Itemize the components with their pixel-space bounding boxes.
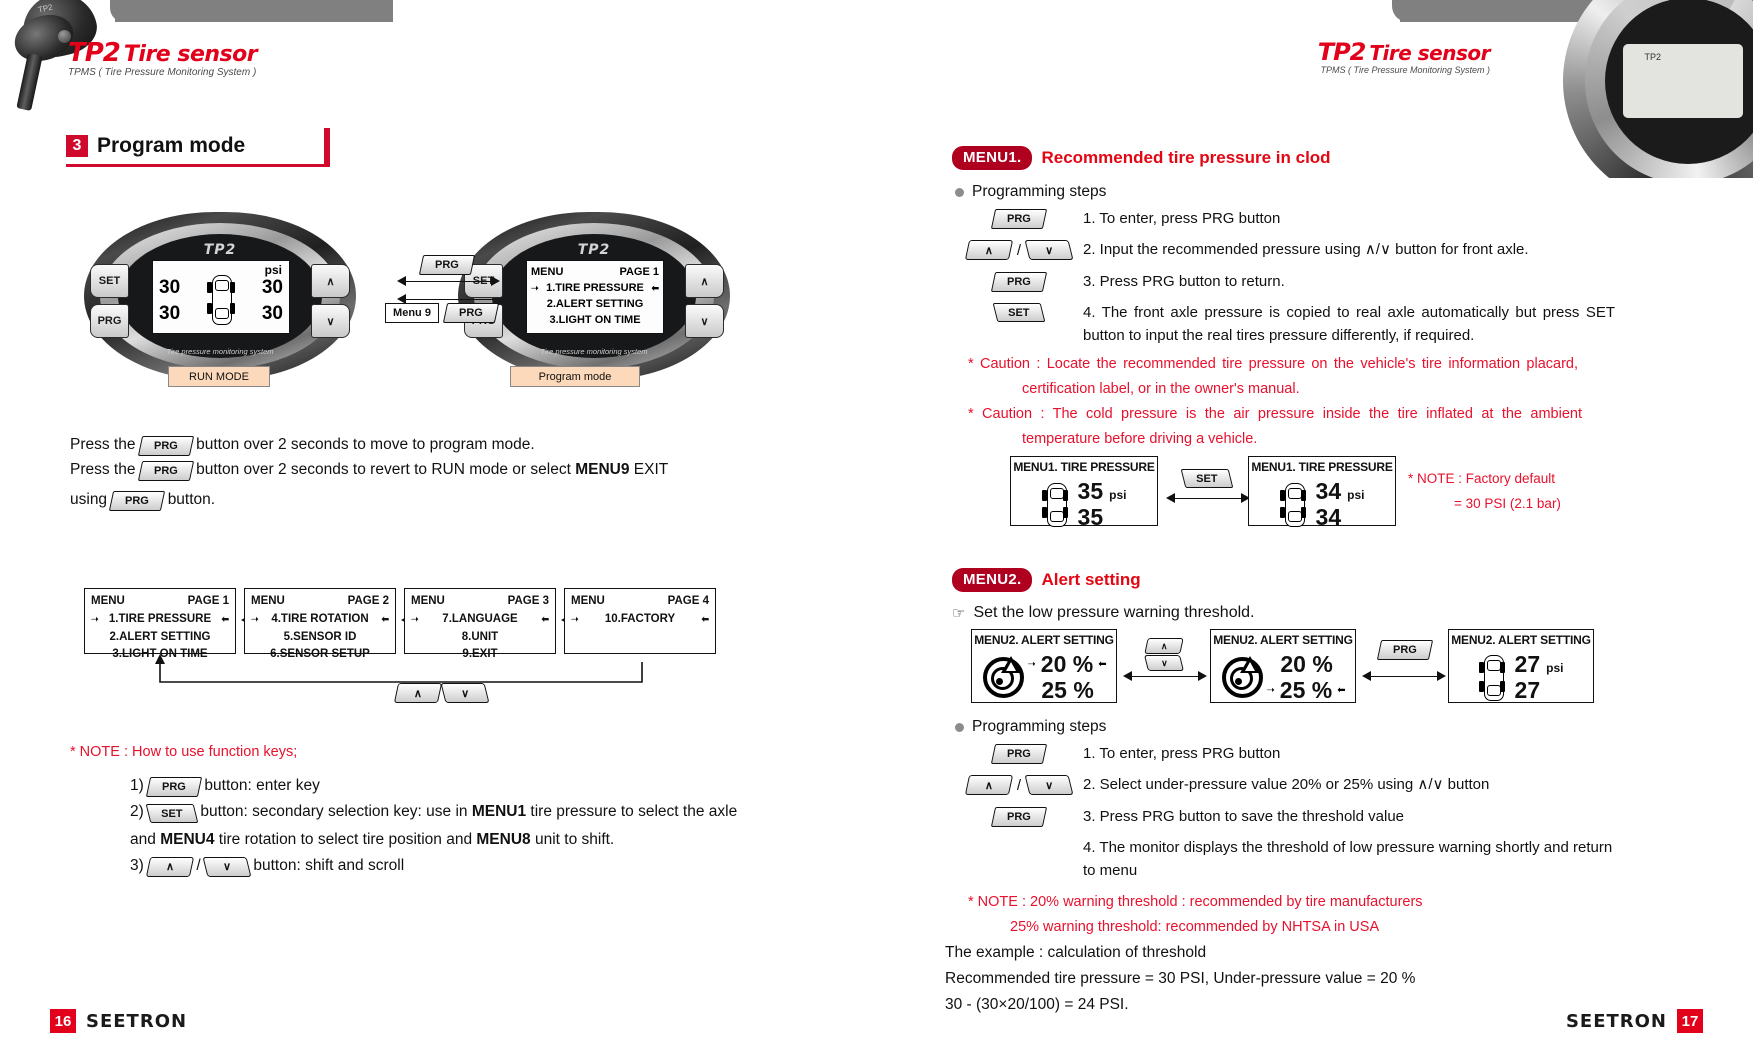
menu1-example-1-bottom: 35 [1078, 504, 1127, 530]
menu2-title: Alert setting [1041, 570, 1140, 590]
pointing-hand-icon: ☞ [952, 604, 965, 622]
menu1-step-4: SET 4. The front axle pressure is copied… [955, 301, 1615, 348]
section-header: 3 Program mode [66, 128, 328, 167]
menu1-step4-text: 4. The front axle pressure is copied to … [1083, 301, 1615, 348]
brand-tiresensor-left: Tire sensor [124, 42, 257, 67]
menu1-step1-text: 1. To enter, press PRG button [1083, 207, 1615, 230]
note-item-2-l1: button: secondary selection key: use in [200, 803, 467, 820]
note-item-3-text: button: shift and scroll [253, 857, 404, 874]
menu2-step3-prg-key: PRG [991, 807, 1047, 827]
car-icon [1042, 483, 1068, 525]
lcd-menu-item-2: 2.ALERT SETTING [531, 297, 659, 313]
menu1-step2-up-key: ∧ [965, 240, 1013, 260]
menu2-note-2: 25% warning threshold: recommended by NH… [1010, 915, 1379, 940]
menu2-step3-text: 3. Press PRG button to save the threshol… [1083, 805, 1615, 828]
menu-page-2-number: PAGE 2 [348, 593, 389, 611]
menu1-example-1-title: MENU1. TIRE PRESSURE [1011, 457, 1157, 474]
device-set-button-run[interactable]: SET [90, 264, 129, 298]
brand-subtitle-left: TPMS ( Tire Pressure Monitoring System ) [68, 67, 257, 78]
paragraph-exit-program-mode: Press the PRG button over 2 seconds to r… [70, 455, 740, 515]
menu-page-3-item-2: 8.UNIT [411, 629, 549, 647]
menu2-example-box-3: MENU2. ALERT SETTING 27 psi 27 [1448, 629, 1594, 703]
menu-page-1-item-1: 1.TIRE PRESSURE [109, 611, 211, 629]
section-header-tick [324, 128, 330, 167]
note-item-2-l2c: unit to shift. [535, 831, 614, 848]
menu2-hand-note-text: Set the low pressure warning threshold. [973, 604, 1254, 622]
menu-page-4-number: PAGE 4 [668, 593, 709, 611]
para2-pre: Press the [70, 461, 135, 478]
para2-line2-prg-key: PRG [109, 491, 165, 511]
tpms-monitor-photo: TP2 [1453, 0, 1753, 178]
brand-subtitle-right: TPMS ( Tire Pressure Monitoring System ) [1318, 65, 1490, 75]
menu2-example-2-title: MENU2. ALERT SETTING [1211, 630, 1355, 647]
menu1-example-2-top: 34 [1316, 478, 1342, 504]
menu2-step-3: PRG 3. Press PRG button to save the thre… [955, 805, 1615, 828]
menu1-step2-down-key: ∨ [1025, 240, 1074, 260]
menu2-example-3-psi: psi [1546, 661, 1563, 675]
tire-warning-icon [981, 656, 1021, 698]
menu-page-2-item-1: 4.TIRE ROTATION [271, 611, 368, 629]
menu2-conn-up-key: ∧ [1144, 638, 1183, 654]
menu-page-3-number: PAGE 3 [508, 593, 549, 611]
footer-logo-left: SEETRON [86, 1011, 187, 1032]
page-number-left: 16 [50, 1009, 76, 1033]
para2-mid: button over 2 seconds to revert to RUN m… [196, 461, 571, 478]
note-item-3-num: 3) [130, 857, 144, 874]
para1-prg-key: PRG [138, 436, 194, 456]
device-screen-logo-run: TP2 [84, 242, 356, 258]
menu-page-3-item-1: 7.LANGUAGE [442, 611, 517, 629]
menu1-factory-note-line2: = 30 PSI (2.1 bar) [1408, 491, 1561, 516]
calc-line-3: 30 - (30×20/100) = 24 PSI. [945, 992, 1415, 1018]
car-icon [1479, 655, 1505, 699]
lcd-front-right-value: 30 [262, 277, 283, 299]
menu1-step3-prg-key: PRG [991, 272, 1047, 292]
menu2-connector-1: ∧ ∨ [1122, 640, 1208, 690]
header-bar-right-round [1392, 0, 1422, 22]
note-prg-key: PRG [146, 777, 202, 797]
brand-tp2-right: TP2 [1318, 38, 1366, 66]
menu1-steps: PRG 1. To enter, press PRG button ∧ / ∨ … [955, 207, 1615, 355]
menu2-example-3-title: MENU2. ALERT SETTING [1449, 630, 1593, 647]
menu1-example-set-key: SET [1181, 469, 1234, 488]
mode-transition-arrows: PRG Menu 9 PRG [395, 255, 500, 325]
note-function-keys-title: * NOTE : How to use function keys; [70, 740, 297, 765]
menu1-pill: MENU1. [952, 146, 1032, 170]
menu2-conn-prg-key: PRG [1377, 640, 1433, 660]
lcd-menu-item-1: 1.TIRE PRESSURE [546, 281, 644, 297]
menu-page-box-2: MENU PAGE 2 ➝ 4.TIRE ROTATION ⬅ 5.SENSOR… [244, 588, 396, 654]
note-menu4-bold: MENU4 [160, 831, 214, 848]
menu2-example-3-bottom: 27 [1515, 677, 1564, 703]
program-mode-lcd: MENU PAGE 1 ➝ 1.TIRE PRESSURE ⬅ 2.ALERT … [526, 260, 664, 334]
menu2-step1-prg-key: PRG [991, 744, 1047, 764]
page-title: Program mode [97, 134, 245, 158]
brand-tiresensor-right: Tire sensor [1369, 41, 1490, 65]
menu1-caution-2: * Caution : The cold pressure is the air… [968, 402, 1582, 452]
note-item-2: 2) SET button: secondary selection key: … [130, 798, 742, 854]
menu2-bullet-label: Programming steps [972, 718, 1106, 736]
run-mode-label: RUN MODE [168, 366, 270, 387]
lcd-front-left-value: 30 [159, 277, 180, 299]
menu2-step4-text: 4. The monitor displays the threshold of… [1083, 836, 1615, 883]
menu2-step-4: 4. The monitor displays the threshold of… [955, 836, 1615, 883]
menu1-example-2-title: MENU1. TIRE PRESSURE [1249, 457, 1395, 474]
menu1-title: Recommended tire pressure in clod [1041, 148, 1330, 168]
note-menu8-bold: MENU8 [476, 831, 530, 848]
menu2-step-2: ∧ / ∨ 2. Select under-pressure value 20%… [955, 773, 1615, 796]
car-icon [1280, 483, 1306, 525]
menu-loop-connector [80, 650, 660, 692]
note-menu1-bold: MENU1 [472, 803, 526, 820]
note-down-key: ∨ [203, 857, 252, 877]
lcd-page-label: PAGE 1 [619, 265, 659, 281]
para1-post: button over 2 seconds to move to program… [196, 436, 535, 453]
para2-exit: EXIT [634, 461, 668, 478]
brand-logo-right: TP2 Tire sensor TPMS ( Tire Pressure Mon… [1318, 38, 1490, 75]
note-up-key: ∧ [146, 857, 194, 877]
scroll-down-key[interactable]: ∨ [441, 683, 490, 703]
calc-line-1: The example : calculation of threshold [945, 940, 1415, 966]
device-down-button-run[interactable]: ∨ [311, 304, 350, 338]
menu2-connector-2: PRG [1361, 640, 1447, 690]
menu1-example-1-top: 35 [1078, 478, 1104, 504]
menu2-steps-bullet: Programming steps [955, 718, 1106, 736]
para2-prg-key: PRG [138, 461, 194, 481]
menu2-example-1-bottom: 25 % [1027, 677, 1106, 703]
menu-page-4-item-1: 10.FACTORY [605, 611, 675, 629]
run-mode-lcd: psi 30 30 30 30 [152, 260, 290, 334]
note-item-2-num: 2) [130, 803, 144, 820]
tire-warning-icon [1220, 656, 1260, 698]
bullet-dot-icon [955, 188, 964, 197]
menu1-header: MENU1. Recommended tire pressure in clod [952, 146, 1331, 170]
menu9-box: Menu 9 [385, 303, 439, 323]
scroll-up-key[interactable]: ∧ [394, 683, 442, 703]
menu-page-box-3: MENU PAGE 3 ➝ 7.LANGUAGE ⬅ 8.UNIT 9.EXIT [404, 588, 556, 654]
menu2-step2-down-key: ∨ [1025, 775, 1074, 795]
menu2-step1-text: 1. To enter, press PRG button [1083, 742, 1615, 765]
brand-tp2-left: TP2 [68, 38, 120, 68]
menu-page-4-label: MENU [571, 593, 605, 611]
scroll-keys-row: ∧ ∨ [396, 683, 487, 703]
brand-logo-left: TP2 Tire sensor TPMS ( Tire Pressure Mon… [68, 38, 257, 78]
menu2-example-1-top: 20 % [1041, 651, 1093, 677]
menu1-step-1: PRG 1. To enter, press PRG button [955, 207, 1615, 230]
run-mode-device: TP2 SET PRG ∧ ∨ psi 30 30 30 30 Tire pre… [84, 212, 356, 380]
device-footer-run: Tire pressure monitoring system [84, 347, 356, 356]
menu2-example-calc: The example : calculation of threshold R… [945, 940, 1415, 1018]
menu1-factory-note: * NOTE : Factory default = 30 PSI (2.1 b… [1408, 466, 1561, 516]
menu1-example-2-bottom: 34 [1316, 504, 1365, 530]
menu1-steps-bullet: Programming steps [955, 183, 1106, 201]
menu2-step2-text: 2. Select under-pressure value 20% or 25… [1083, 773, 1615, 796]
device-down-button-prog[interactable]: ∨ [685, 304, 724, 338]
note-item-2-l2b: tire rotation to select tire position an… [219, 831, 472, 848]
menu1-step-3: PRG 3. Press PRG button to return. [955, 270, 1615, 293]
menu2-hand-note: ☞ Set the low pressure warning threshold… [952, 604, 1255, 622]
manual-page: TP2 TP2 TP2 Tire sensor TPMS ( Tire Pres… [0, 0, 1753, 1047]
menu-page-1-number: PAGE 1 [188, 593, 229, 611]
footer-right: SEETRON 17 [1566, 1009, 1703, 1033]
device-up-button-prog[interactable]: ∧ [685, 264, 724, 298]
para2-line2-post: button. [168, 491, 215, 508]
menu-page-2-label: MENU [251, 593, 285, 611]
header-bar-left [115, 0, 393, 22]
menu1-step3-text: 3. Press PRG button to return. [1083, 270, 1615, 293]
menu2-step2-up-key: ∧ [965, 775, 1013, 795]
menu2-example-2-top: 20 % [1266, 651, 1345, 677]
menu-page-3-label: MENU [411, 593, 445, 611]
device-prg-button-run[interactable]: PRG [90, 304, 129, 338]
lcd-menu-item-3: 3.LIGHT ON TIME [531, 313, 659, 329]
note-item-2-l1b: tire pressure to select [530, 803, 678, 820]
menu1-example-box-1: MENU1. TIRE PRESSURE 35 psi 35 [1010, 456, 1158, 526]
menu-page-box-1: MENU PAGE 1 ➝ 1.TIRE PRESSURE ⬅ 2.ALERT … [84, 588, 236, 654]
para1-pre: Press the [70, 436, 135, 453]
footer-logo-right: SEETRON [1566, 1011, 1667, 1032]
menu-page-1-item-2: 2.ALERT SETTING [91, 629, 229, 647]
lcd-psi-unit: psi [265, 263, 282, 277]
menu1-step2-text: 2. Input the recommended pressure using … [1083, 238, 1615, 261]
menu1-example-1-psi: psi [1109, 488, 1126, 502]
menu2-example-1-title: MENU2. ALERT SETTING [972, 630, 1116, 647]
transition-back-keys: Menu 9 PRG [385, 303, 497, 323]
transition-prg-key-back: PRG [443, 303, 499, 323]
note-item-1-text: button: enter key [204, 777, 319, 794]
note-set-key: SET [146, 804, 199, 823]
menu2-example-3-top: 27 [1515, 651, 1541, 677]
para2-line2-pre: using [70, 491, 107, 508]
menu2-header: MENU2. Alert setting [952, 568, 1141, 592]
menu1-example-box-2: MENU1. TIRE PRESSURE 34 psi 34 [1248, 456, 1396, 526]
menu1-caution-1: * Caution : Locate the recommended tire … [968, 352, 1578, 402]
note-item-3: 3) ∧ / ∨ button: shift and scroll [130, 852, 740, 880]
note-item-1: 1) PRG button: enter key [130, 772, 740, 800]
menu2-pill: MENU2. [952, 568, 1032, 592]
footer-left: 16 SEETRON [50, 1009, 187, 1033]
menu2-note-1: * NOTE : 20% warning threshold : recomme… [968, 890, 1423, 915]
menu1-example-connector: SET [1165, 468, 1251, 518]
menu-page-box-4: MENU PAGE 4 ➝ 10.FACTORY ⬅ [564, 588, 716, 654]
section-number: 3 [66, 135, 88, 157]
calc-line-2: Recommended tire pressure = 30 PSI, Unde… [945, 966, 1415, 992]
lcd-rear-left-value: 30 [159, 303, 180, 325]
bullet-dot-icon [955, 723, 964, 732]
lcd-menu-label: MENU [531, 265, 563, 281]
menu2-steps: PRG 1. To enter, press PRG button ∧ / ∨ … [955, 742, 1615, 890]
page-number-right: 17 [1677, 1009, 1703, 1033]
program-mode-label: Program mode [510, 366, 640, 387]
lcd-rear-right-value: 30 [262, 303, 283, 325]
menu1-example-2-psi: psi [1347, 488, 1364, 502]
menu1-step1-prg-key: PRG [991, 209, 1047, 229]
menu2-example-2-bottom: 25 % [1280, 677, 1332, 703]
menu1-factory-note-line1: * NOTE : Factory default [1408, 466, 1561, 491]
menu1-step4-set-key: SET [993, 303, 1046, 322]
menu2-example-box-2: MENU2. ALERT SETTING 20 % ➝ 25 % ⬅ [1210, 629, 1356, 703]
para2-menu9-bold: MENU9 [575, 461, 629, 478]
note-item-1-num: 1) [130, 777, 144, 794]
device-up-button-run[interactable]: ∧ [311, 264, 350, 298]
menu-page-2-item-2: 5.SENSOR ID [251, 629, 389, 647]
device-footer-prog: Tire pressure monitoring system [458, 347, 730, 356]
menu1-bullet-label: Programming steps [972, 183, 1106, 201]
monitor-photo-label: TP2 [1644, 52, 1661, 62]
car-icon [207, 275, 235, 323]
menu1-step-2: ∧ / ∨ 2. Input the recommended pressure … [955, 238, 1615, 261]
menu2-conn-down-key: ∨ [1144, 655, 1184, 671]
transition-prg-key-forward: PRG [421, 255, 473, 275]
menu2-step-1: PRG 1. To enter, press PRG button [955, 742, 1615, 765]
menu-page-1-label: MENU [91, 593, 125, 611]
menu2-example-box-1: MENU2. ALERT SETTING ➝ 20 % ⬅ 25 % [971, 629, 1117, 703]
